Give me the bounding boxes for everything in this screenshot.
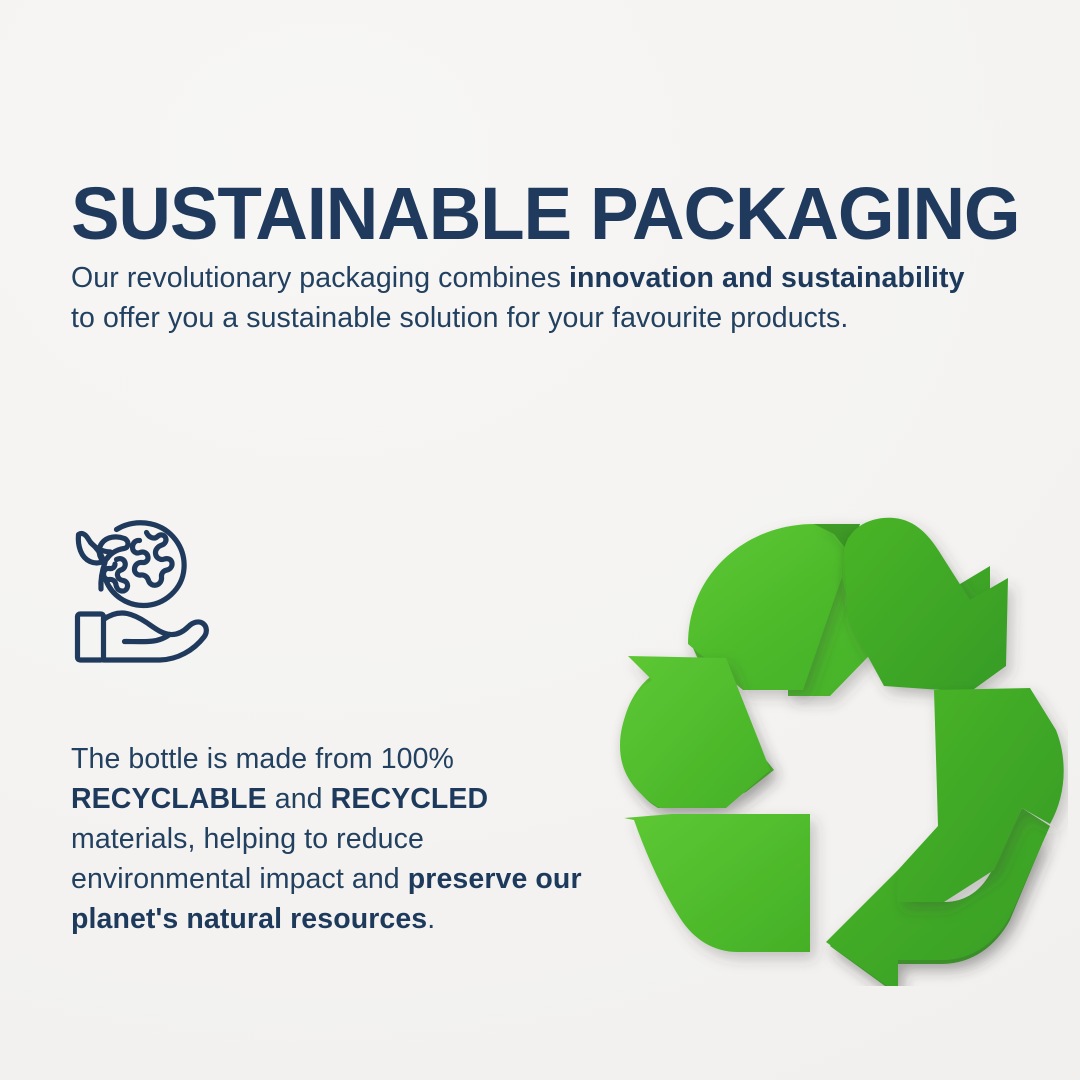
plain-text: Our revolutionary packaging combines: [71, 262, 569, 294]
emphasis-text: RECYCLABLE: [71, 783, 267, 815]
plain-text: The bottle is made from 100%: [71, 743, 454, 775]
emphasis-text: RECYCLED: [331, 783, 489, 815]
intro-paragraph: Our revolutionary packaging combines inn…: [71, 258, 993, 338]
globe-leaf-hand-icon: [72, 516, 212, 664]
body-paragraph: The bottle is made from 100% RECYCLABLE …: [71, 739, 601, 939]
plain-text: to offer you a sustainable solution for …: [71, 302, 848, 334]
plain-text: and: [267, 783, 331, 815]
poster-canvas: SUSTAINABLE PACKAGING Our revolutionary …: [0, 0, 1080, 1080]
emphasis-text: innovation and sustainability: [569, 262, 965, 294]
plain-text: .: [427, 903, 435, 935]
recycling-symbol: [598, 508, 1068, 986]
page-title: SUSTAINABLE PACKAGING: [71, 176, 1007, 252]
plain-text: materials, helping to reduce environment…: [71, 823, 424, 895]
